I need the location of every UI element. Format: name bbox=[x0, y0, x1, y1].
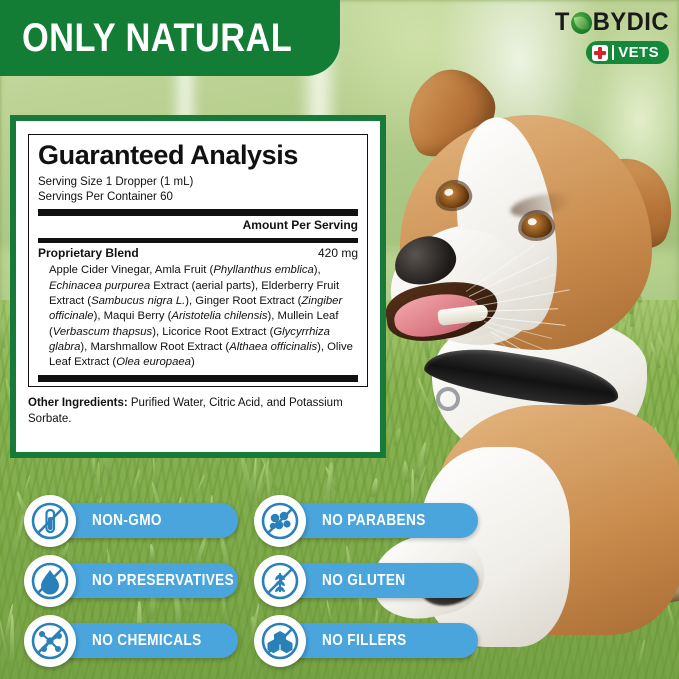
facts-box: Guaranteed Analysis Serving Size 1 Dropp… bbox=[28, 134, 368, 387]
feature-badges: NON-GMONO PARABENSNO PRESERVATIVESNO GLU… bbox=[0, 495, 470, 679]
brand-name: T BYDIC bbox=[527, 8, 670, 37]
badge-divider bbox=[612, 45, 614, 60]
brand-name-part1: T bbox=[555, 8, 570, 37]
badge-label: NO PRESERVATIVES bbox=[92, 572, 234, 590]
only-natural-banner: ONLY NATURAL bbox=[0, 0, 340, 76]
no-wheat-icon bbox=[254, 555, 306, 607]
rule-thick-bottom bbox=[38, 375, 358, 382]
banner-text: ONLY NATURAL bbox=[22, 16, 292, 61]
leaf-circle-icon bbox=[571, 12, 592, 34]
other-ingredients-label: Other Ingredients: bbox=[28, 397, 128, 409]
no-molecule-icon bbox=[24, 615, 76, 667]
vets-label: VETS bbox=[618, 44, 659, 61]
servings-per-container: Servings Per Container 60 bbox=[38, 190, 358, 205]
badge-label: NON-GMO bbox=[92, 512, 162, 530]
brand-logo: T BYDIC VETS bbox=[519, 8, 669, 64]
no-test-tube-icon bbox=[24, 495, 76, 547]
rule-thick-mid bbox=[38, 238, 358, 243]
blend-name: Proprietary Blend bbox=[38, 246, 139, 260]
ingredient-list: Apple Cider Vinegar, Amla Fruit (Phyllan… bbox=[49, 263, 358, 371]
medical-cross-icon bbox=[592, 45, 608, 61]
grass-blade bbox=[97, 462, 100, 498]
no-cubes-icon bbox=[254, 615, 306, 667]
rule-thick-top bbox=[38, 209, 358, 216]
no-molecule-cluster-icon bbox=[254, 495, 306, 547]
blend-amount: 420 mg bbox=[318, 246, 358, 260]
serving-size: Serving Size 1 Dropper (1 mL) bbox=[38, 175, 358, 190]
no-water-drop-icon bbox=[24, 555, 76, 607]
badge-label: NO GLUTEN bbox=[322, 572, 405, 590]
badge-label: NO PARABENS bbox=[322, 512, 426, 530]
panel-title: Guaranteed Analysis bbox=[38, 141, 358, 170]
brand-name-part2: BYDIC bbox=[593, 8, 669, 37]
badge-label: NO CHEMICALS bbox=[92, 632, 202, 650]
panel-inner: Guaranteed Analysis Serving Size 1 Dropp… bbox=[16, 121, 380, 452]
amount-per-serving-header: Amount Per Serving bbox=[38, 218, 358, 232]
product-label-image: ONLY NATURAL T BYDIC VETS Guaranteed Ana… bbox=[0, 0, 679, 679]
badge-label: NO FILLERS bbox=[322, 632, 407, 650]
other-ingredients: Other Ingredients: Purified Water, Citri… bbox=[28, 396, 368, 428]
guaranteed-analysis-panel: Guaranteed Analysis Serving Size 1 Dropp… bbox=[10, 115, 386, 458]
proprietary-blend-row: Proprietary Blend 420 mg bbox=[38, 246, 358, 260]
vets-badge: VETS bbox=[586, 41, 669, 64]
